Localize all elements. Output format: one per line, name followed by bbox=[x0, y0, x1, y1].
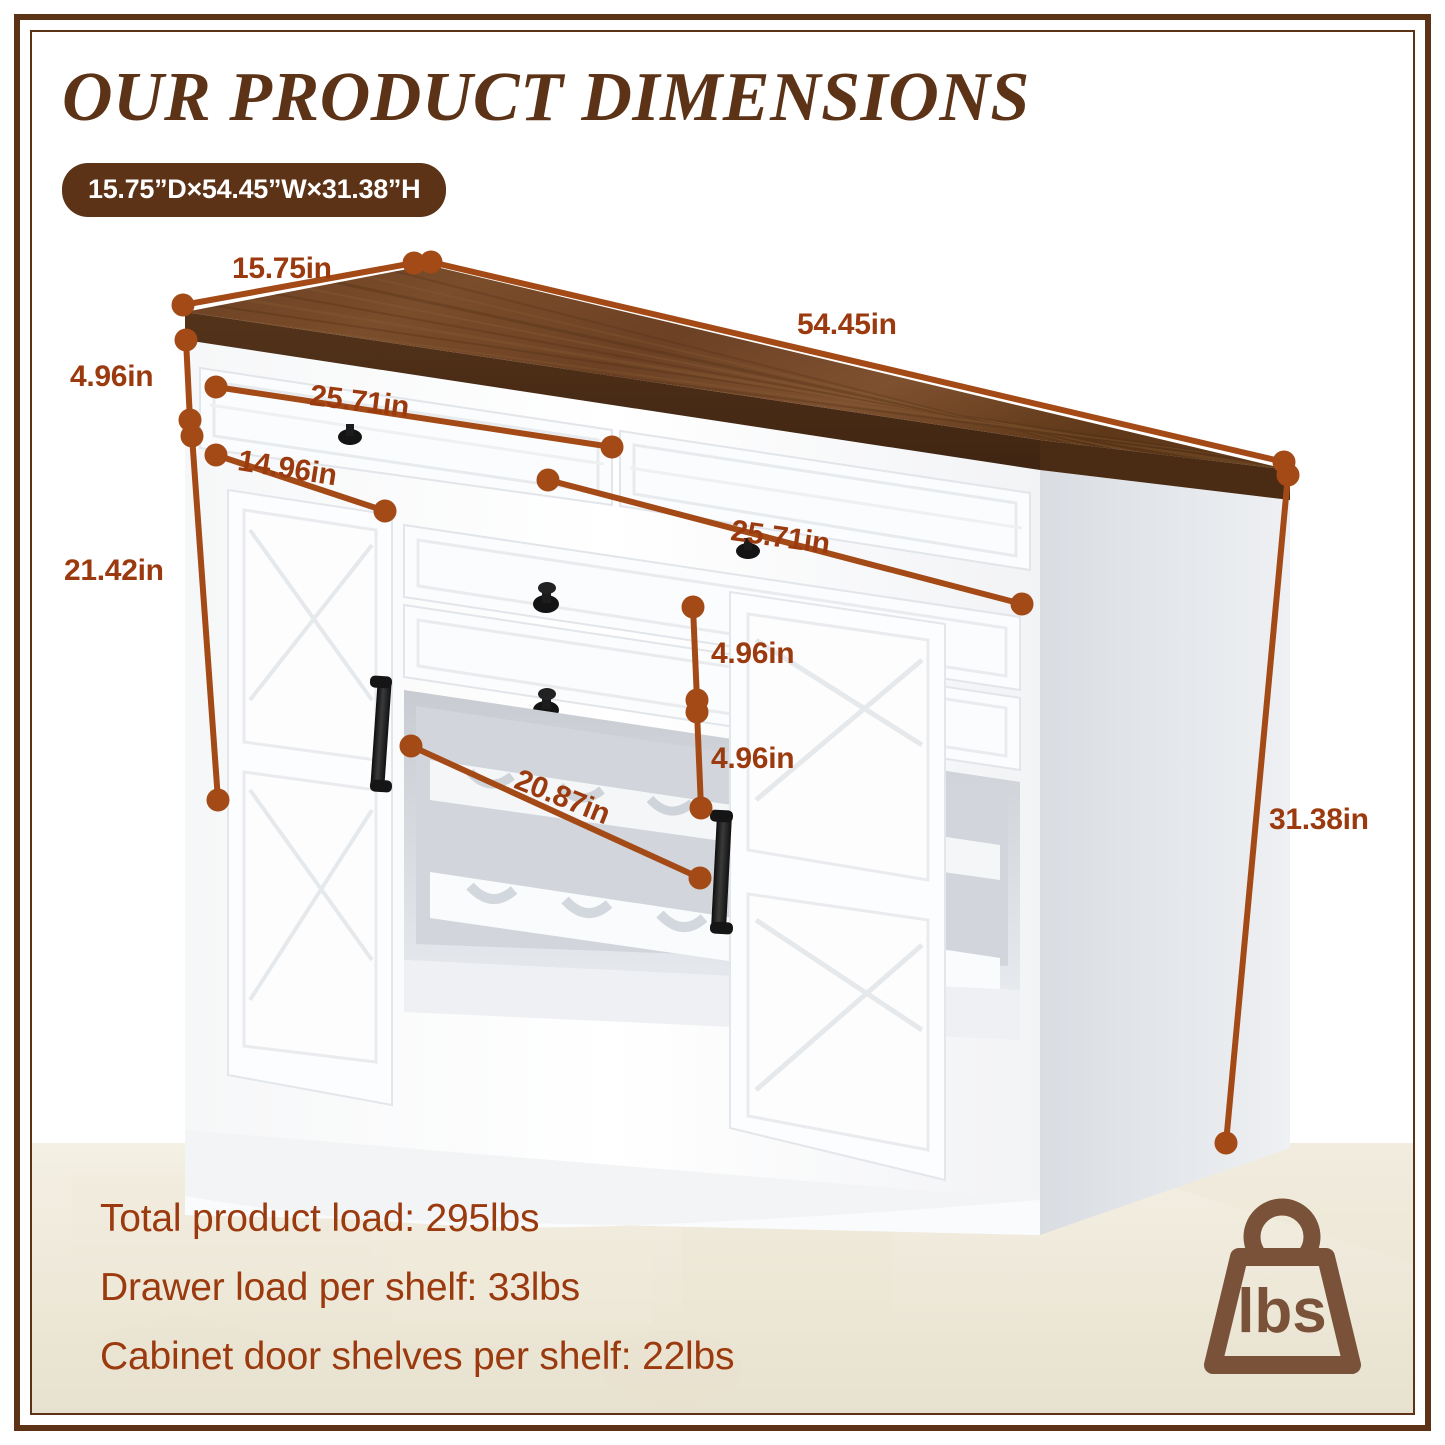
spec-cabinet-load: Cabinet door shelves per shelf: 22lbs bbox=[100, 1335, 734, 1379]
weight-lbs-icon: lbs bbox=[1195, 1195, 1370, 1385]
dimension-label-drawer-h-lower: 4.96in bbox=[711, 742, 794, 776]
dimension-label-width-top: 54.45in bbox=[797, 308, 897, 342]
dimension-label-cabinet-height: 21.42in bbox=[64, 554, 164, 588]
lbs-icon-text: lbs bbox=[1237, 1277, 1327, 1346]
load-spec-list: Total product load: 295lbs Drawer load p… bbox=[100, 1197, 734, 1379]
spec-drawer-load: Drawer load per shelf: 33lbs bbox=[100, 1266, 734, 1310]
dimension-label-drawer-h-upper: 4.96in bbox=[711, 637, 794, 671]
dimension-label-total-height: 31.38in bbox=[1269, 803, 1369, 837]
cabinet-door-left[interactable] bbox=[228, 490, 392, 1105]
spec-total-load: Total product load: 295lbs bbox=[100, 1197, 734, 1241]
cabinet-door-right[interactable] bbox=[730, 592, 945, 1180]
dimension-label-depth-top: 15.75in bbox=[232, 252, 332, 286]
dimension-label-top-thickness: 4.96in bbox=[70, 360, 153, 394]
infographic-page: 15.75in 54.45in 4.96in 25.71in 14.96in 2… bbox=[0, 0, 1445, 1445]
